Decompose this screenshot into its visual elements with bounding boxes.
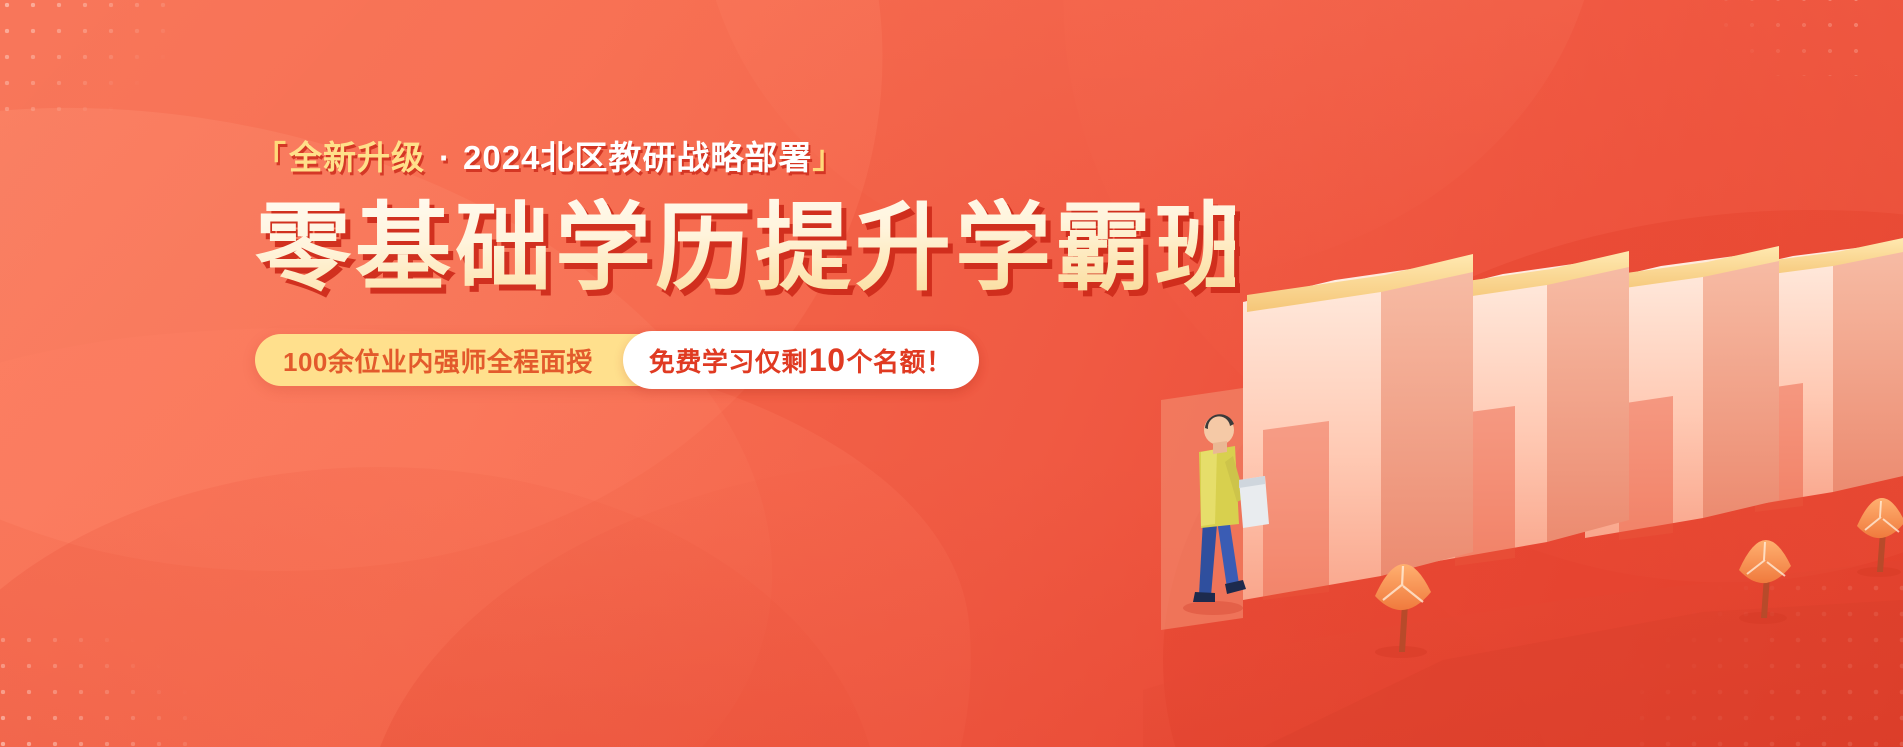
tree-left <box>1375 564 1431 658</box>
subtitle-highlight-text: 全新升级 <box>287 140 427 176</box>
subtitle-rest-text: 2024北区教研战略部署 <box>463 140 812 176</box>
badge-right-cta[interactable]: 免费学习仅剩 10 个名额！ <box>623 331 979 389</box>
student-figure <box>1183 414 1269 615</box>
badge-right-prefix: 免费学习仅剩 <box>649 342 808 379</box>
dot-pattern-bottom-right <box>1629 575 1903 747</box>
arch-doorway <box>1161 388 1243 630</box>
dot-pattern-bottom-left <box>0 627 200 747</box>
badge-left-label: 100余位业内强师全程面授 <box>255 334 623 386</box>
dot-pattern-top-right <box>1713 0 1863 76</box>
page-title: 零基础学历提升学霸班 <box>255 198 1235 300</box>
badge-seat-count: 10 <box>808 342 847 379</box>
background-wave-mid-right <box>1163 210 1903 747</box>
subtitle-separator-dot: · <box>427 140 463 176</box>
banner-copy: 「 全新升级 · 2024北区教研战略部署 」 零基础学历提升学霸班 100余位… <box>255 140 1235 386</box>
arch-4 <box>1723 238 1903 512</box>
bracket-close-glyph: 」 <box>812 141 844 175</box>
promo-banner: 「 全新升级 · 2024北区教研战略部署 」 零基础学历提升学霸班 100余位… <box>0 0 1903 747</box>
bracket-open-glyph: 「 <box>255 141 287 175</box>
promo-badge: 100余位业内强师全程面授 免费学习仅剩 10 个名额！ <box>255 334 977 386</box>
arch-2 <box>1421 251 1629 566</box>
background-wave-bottom-left-2 <box>0 467 880 747</box>
background-wave-bottom-right <box>363 457 1563 747</box>
arch-3 <box>1585 246 1779 540</box>
badge-right-suffix: 个名额！ <box>847 342 953 379</box>
badge-right-text: 免费学习仅剩 10 个名额！ <box>649 342 953 379</box>
dot-pattern-top-left <box>0 0 184 112</box>
tree-middle <box>1739 540 1791 624</box>
banner-subtitle: 「 全新升级 · 2024北区教研战略部署 」 <box>255 140 1235 176</box>
tree-right <box>1857 498 1903 577</box>
arches-illustration <box>1143 0 1903 747</box>
